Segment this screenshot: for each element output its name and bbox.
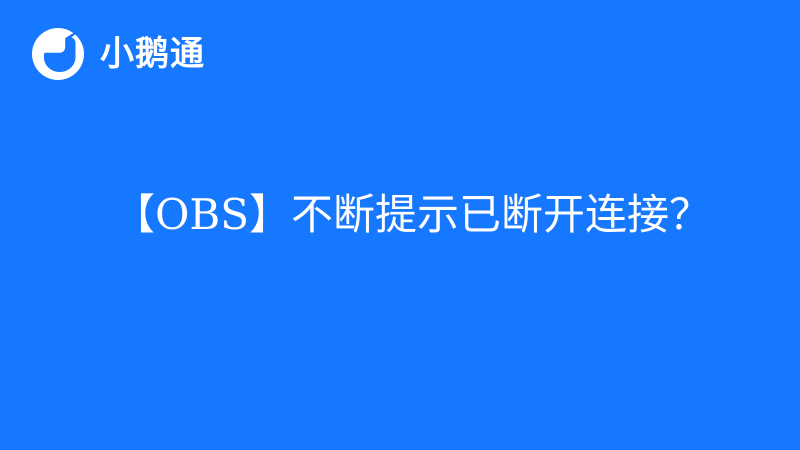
brand-lockup[interactable]: 小鹅通 [32,28,205,80]
banner-canvas: 小鹅通 【OBS】不断提示已断开连接？ [0,0,800,450]
goose-logo-icon [32,28,84,80]
page-title: 【OBS】不断提示已断开连接？ [113,191,711,239]
headline-area: 【OBS】不断提示已断开连接？ [0,178,800,252]
brand-wordmark: 小鹅通 [100,37,205,71]
